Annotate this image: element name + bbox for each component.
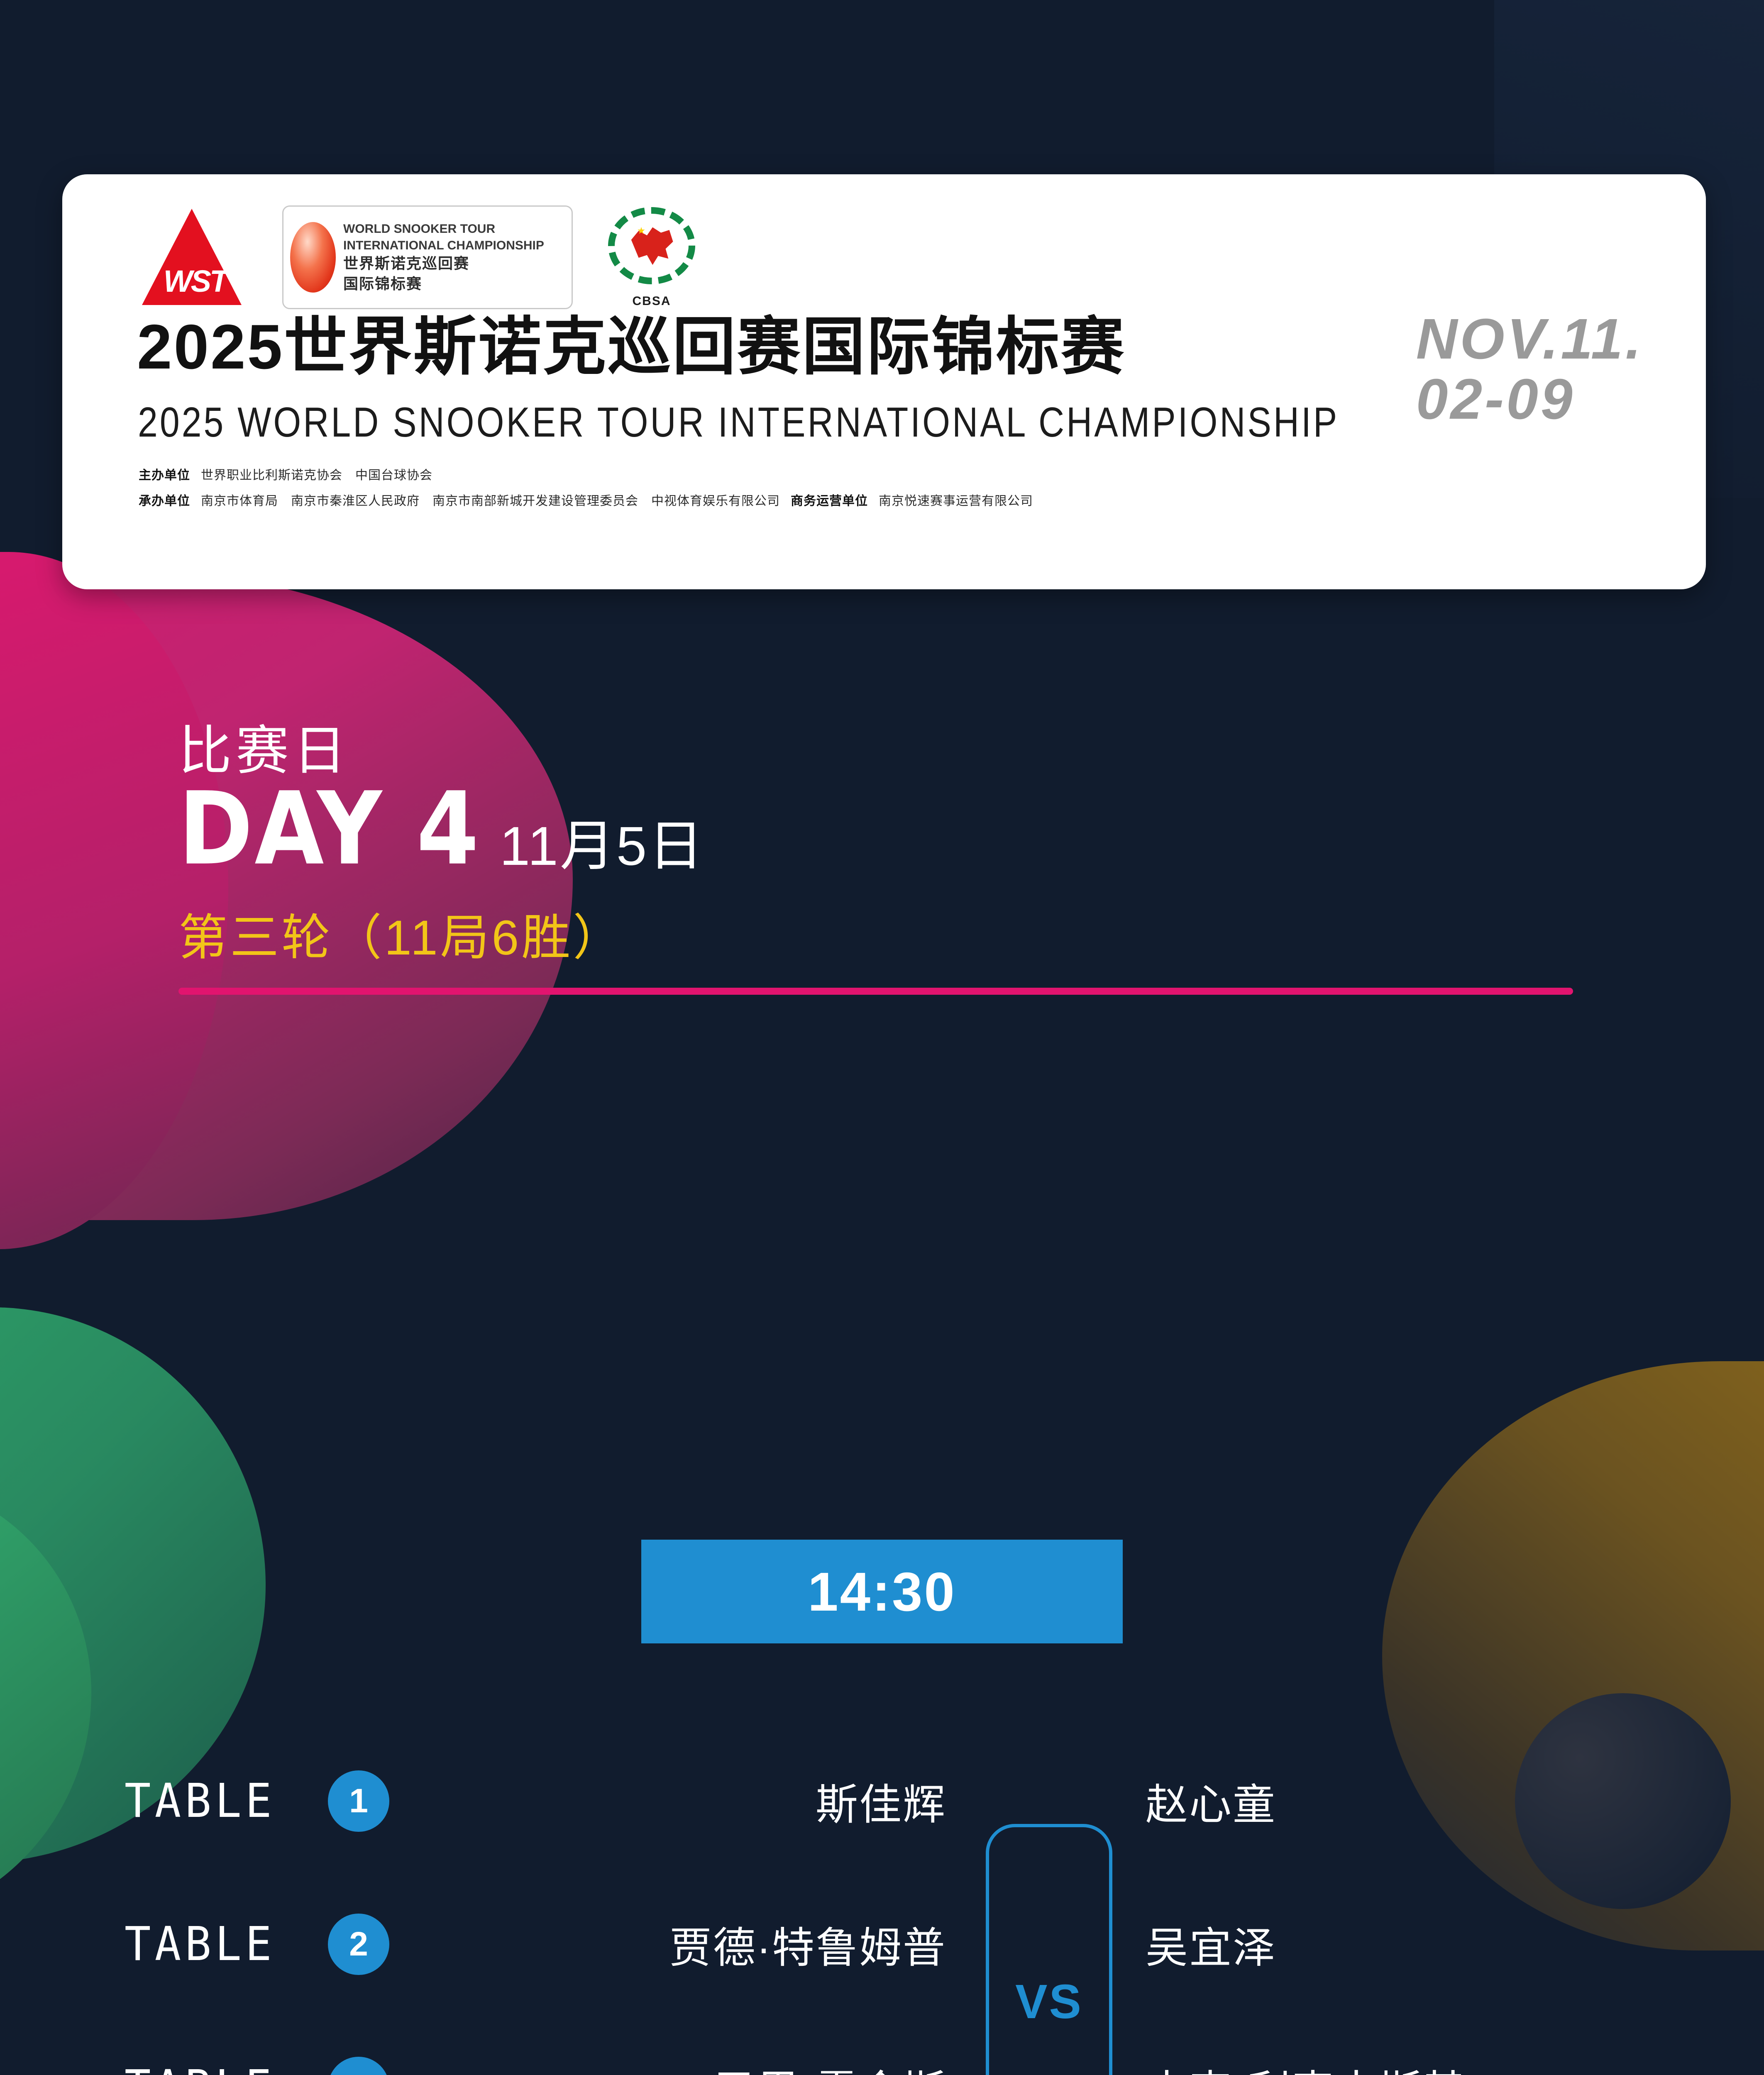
event-date-line2: 02-09: [1416, 371, 1644, 427]
match-list: TABLE 1 斯佳辉 赵心童 TABLE 2 贾德·特鲁姆普 吴宜泽 TABL…: [0, 1735, 1764, 2075]
player-left-name: 贾德·特鲁姆普: [457, 1914, 946, 1975]
credit-label: 主办单位: [139, 465, 190, 483]
session-time-badge: 14:30: [641, 1540, 1123, 1643]
logo-group: WST WORLD SNOOKER TOUR INTERNATIONAL CHA…: [133, 199, 706, 315]
table-number-badge: 3: [328, 2057, 389, 2075]
divider-rule: [178, 988, 1573, 995]
match-row: TABLE 1 斯佳辉 赵心童: [0, 1760, 1764, 1843]
credit-row: 承办单位 南京市体育局 南京市秦淮区人民政府 南京市南部新城开发建设管理委员会 …: [139, 491, 1425, 509]
player-right-name: 赵心童: [1146, 1771, 1693, 1832]
session-time-label: 14:30: [808, 1560, 956, 1623]
round-format-label: 第三轮（11局6胜）: [178, 898, 1573, 969]
event-banner: WST WORLD SNOOKER TOUR INTERNATIONAL CHA…: [62, 174, 1706, 589]
player-right-name: 吴宜泽: [1146, 1914, 1693, 1975]
event-title-chinese: 2025世界斯诺克巡回赛国际锦标赛: [137, 315, 1126, 378]
logo-cn-line2: 国际锦标赛: [343, 275, 544, 293]
day-main-row: DAY 4 11月5日: [178, 791, 1573, 881]
table-number-badge: 2: [328, 1914, 389, 1975]
wst-logo-label: WST: [149, 264, 241, 299]
day-number-heading: DAY 4: [178, 781, 481, 876]
table-label: TABLE: [125, 2060, 276, 2075]
credit-label: 商务运营单位: [791, 491, 868, 509]
player-right-name: 杰克·利索夫斯基: [1146, 2057, 1693, 2075]
logo-en-line1: WORLD SNOOKER TOUR: [343, 222, 544, 236]
cbsa-logo-icon: CBSA: [598, 205, 706, 309]
day-date-label: 11月5日: [500, 802, 705, 881]
player-left-name: 斯佳辉: [457, 1771, 946, 1832]
table-label: TABLE: [125, 1917, 276, 1971]
snooker-ball-icon: [290, 222, 336, 293]
logo-en-line2: INTERNATIONAL CHAMPIONSHIP: [343, 239, 544, 253]
table-label: TABLE: [125, 1774, 276, 1828]
cbsa-logo-label: CBSA: [598, 294, 706, 308]
credit-value: 南京悦速赛事运营有限公司: [879, 491, 1033, 509]
logo-cn-line1: 世界斯诺克巡回赛: [343, 255, 544, 272]
credit-value: 世界职业比利斯诺克协会 中国台球协会: [201, 465, 432, 483]
event-date-line1: NOV.11.: [1416, 311, 1644, 367]
day-block: 比赛日 DAY 4 11月5日 第三轮（11局6胜）: [178, 722, 1573, 995]
credit-value: 南京市体育局 南京市秦淮区人民政府 南京市南部新城开发建设管理委员会 中视体育娱…: [201, 491, 780, 509]
event-title-english: 2025 WORLD SNOOKER TOUR INTERNATIONAL CH…: [138, 398, 1339, 447]
international-championship-logo-icon: WORLD SNOOKER TOUR INTERNATIONAL CHAMPIO…: [282, 205, 573, 309]
match-row: TABLE 3 巴里·霍金斯 杰克·利索夫斯基: [0, 2046, 1764, 2075]
logo-text-lines: WORLD SNOOKER TOUR INTERNATIONAL CHAMPIO…: [343, 222, 544, 293]
poster-root: WST WORLD SNOOKER TOUR INTERNATIONAL CHA…: [0, 0, 1764, 2075]
credit-row: 主办单位 世界职业比利斯诺克协会 中国台球协会: [139, 465, 1425, 483]
credits-block: 主办单位 世界职业比利斯诺克协会 中国台球协会 承办单位 南京市体育局 南京市秦…: [139, 465, 1425, 509]
event-date-block: NOV.11. 02-09: [1416, 311, 1644, 427]
credit-label: 承办单位: [139, 491, 190, 509]
player-left-name: 巴里·霍金斯: [457, 2057, 946, 2075]
match-row: TABLE 2 贾德·特鲁姆普 吴宜泽: [0, 1903, 1764, 1986]
wst-logo-icon: WST: [133, 205, 257, 309]
table-number-badge: 1: [328, 1770, 389, 1832]
